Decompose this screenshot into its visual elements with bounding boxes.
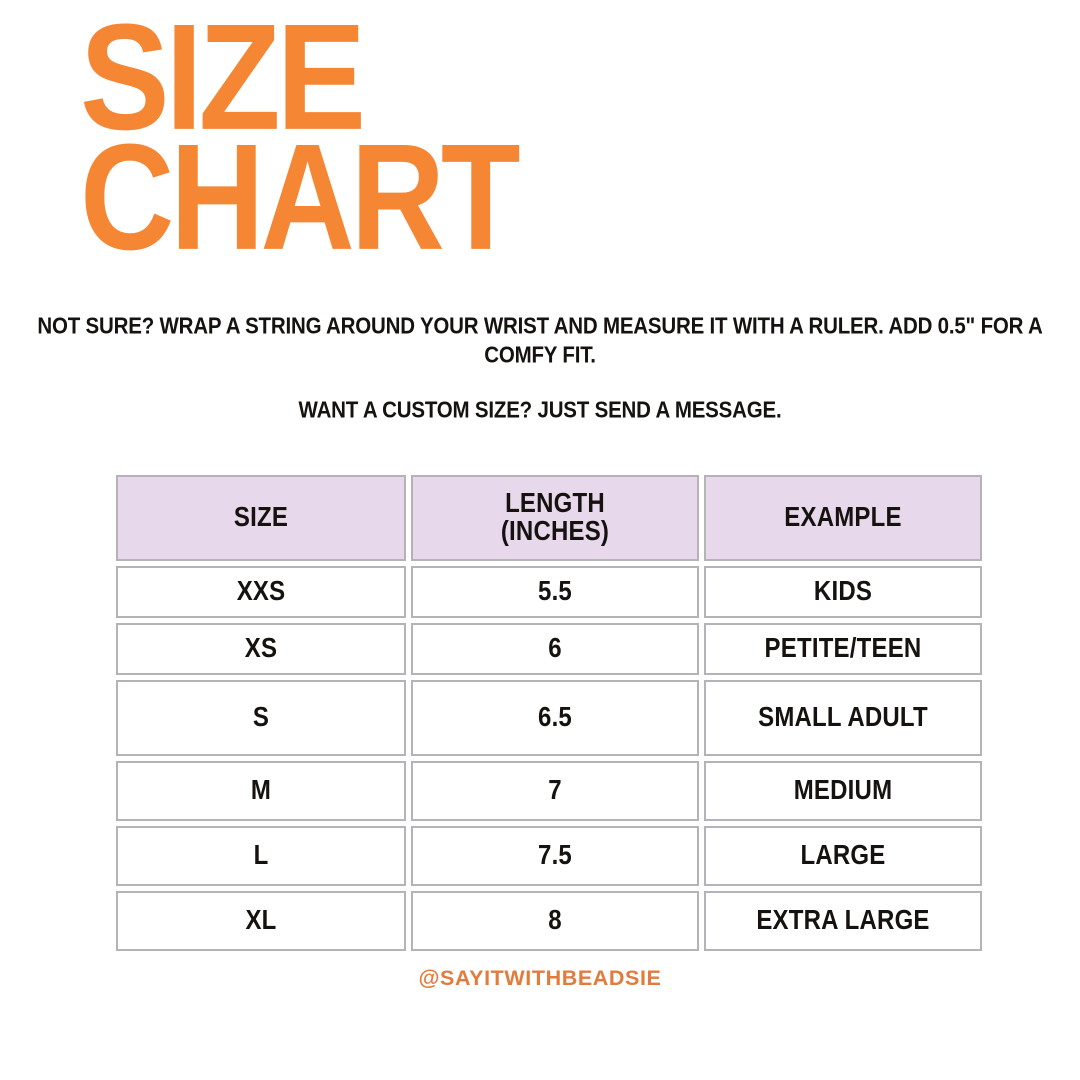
cell-size: S (116, 680, 406, 756)
table-header-row: SIZE LENGTH (INCHES) EXAMPLE (116, 475, 982, 561)
cell-example-value: MEDIUM (706, 775, 980, 807)
cell-size: M (116, 761, 406, 821)
cell-size-value: M (118, 775, 404, 807)
cell-size-value: XL (118, 905, 404, 937)
measuring-instructions-text: NOT SURE? WRAP A STRING AROUND YOUR WRIS… (12, 312, 1068, 371)
cell-length-value: 6.5 (413, 702, 697, 734)
table-row: XS 6 PETITE/TEEN (116, 623, 982, 675)
cell-length-value: 7 (413, 775, 697, 807)
cell-length: 5.5 (411, 566, 699, 618)
column-header-size-label: SIZE (118, 502, 404, 533)
column-header-size: SIZE (116, 475, 406, 561)
size-chart-table-head: SIZE LENGTH (INCHES) EXAMPLE (116, 475, 982, 561)
column-header-length: LENGTH (INCHES) (411, 475, 699, 561)
column-header-example-label: EXAMPLE (706, 502, 980, 533)
table-row: M 7 MEDIUM (116, 761, 982, 821)
page-title-line-2: CHART (80, 138, 549, 259)
cell-length: 6.5 (411, 680, 699, 756)
cell-example-value: KIDS (706, 576, 980, 608)
cell-example: PETITE/TEEN (704, 623, 982, 675)
instagram-handle[interactable]: @SAYITWITHBEADSIE (0, 966, 1080, 991)
column-header-length-label-line2: (INCHES) (413, 516, 697, 547)
cell-size-value: XXS (118, 576, 404, 608)
page-title: SIZE CHART (80, 18, 540, 241)
cell-example-value: SMALL ADULT (706, 702, 980, 734)
cell-example: SMALL ADULT (704, 680, 982, 756)
cell-example-value: PETITE/TEEN (706, 633, 980, 665)
cell-example: EXTRA LARGE (704, 891, 982, 951)
cell-size: XS (116, 623, 406, 675)
cell-length: 7 (411, 761, 699, 821)
cell-size-value: XS (118, 633, 404, 665)
size-chart-table-body: XXS 5.5 KIDS XS 6 PETITE/TEEN S (116, 566, 982, 951)
cell-length-value: 8 (413, 905, 697, 937)
table-row: S 6.5 SMALL ADULT (116, 680, 982, 756)
cell-size: L (116, 826, 406, 886)
cell-example: LARGE (704, 826, 982, 886)
cell-length-value: 7.5 (413, 840, 697, 872)
cell-length-value: 6 (413, 633, 697, 665)
cell-example: KIDS (704, 566, 982, 618)
cell-length: 8 (411, 891, 699, 951)
cell-size-value: S (118, 702, 404, 734)
table-row: XL 8 EXTRA LARGE (116, 891, 982, 951)
cell-example-value: EXTRA LARGE (706, 905, 980, 937)
column-header-example: EXAMPLE (704, 475, 982, 561)
cell-example: MEDIUM (704, 761, 982, 821)
cell-example-value: LARGE (706, 840, 980, 872)
cell-size-value: L (118, 840, 404, 872)
table-row: XXS 5.5 KIDS (116, 566, 982, 618)
size-chart-table: SIZE LENGTH (INCHES) EXAMPLE XXS 5.5 KID… (111, 470, 987, 956)
cell-length: 7.5 (411, 826, 699, 886)
cell-length-value: 5.5 (413, 576, 697, 608)
table-row: L 7.5 LARGE (116, 826, 982, 886)
cell-length: 6 (411, 623, 699, 675)
custom-size-message-text: WANT A CUSTOM SIZE? JUST SEND A MESSAGE. (12, 396, 1068, 425)
cell-size: XXS (116, 566, 406, 618)
cell-size: XL (116, 891, 406, 951)
